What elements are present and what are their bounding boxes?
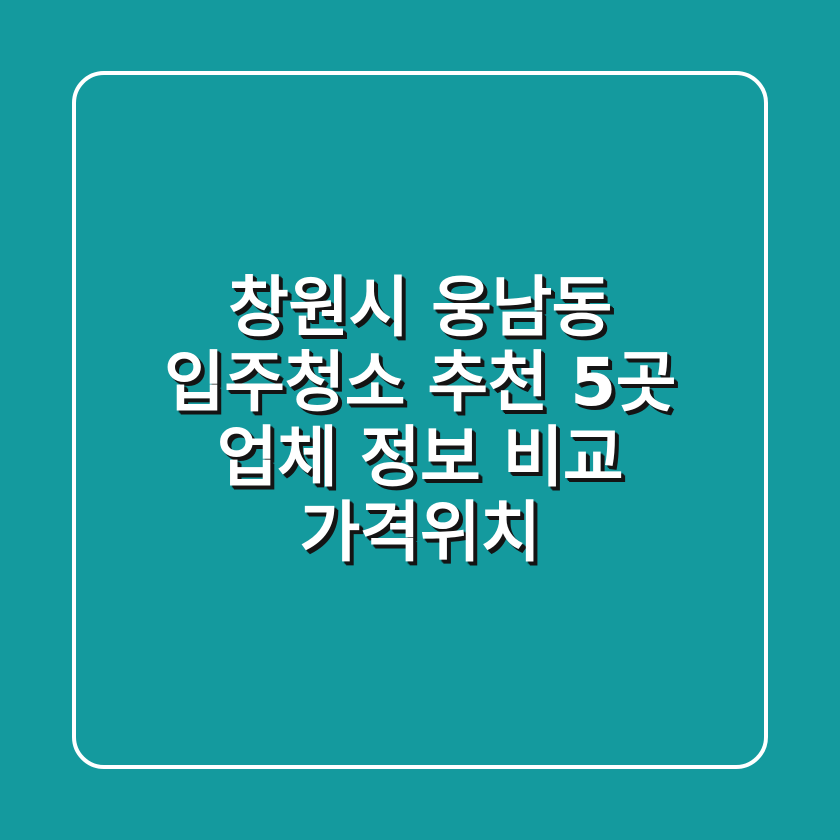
title-line-1: 창원시 웅남동 xyxy=(78,270,762,345)
title-line-3: 업체 정보 비교 xyxy=(78,420,762,495)
title-line-2: 입주청소 추천 5곳 xyxy=(78,345,762,420)
thumbnail-canvas: 창원시 웅남동 입주청소 추천 5곳 업체 정보 비교 가격위치 xyxy=(0,0,840,840)
title-line-4: 가격위치 xyxy=(78,495,762,570)
title-block: 창원시 웅남동 입주청소 추천 5곳 업체 정보 비교 가격위치 xyxy=(0,0,840,840)
